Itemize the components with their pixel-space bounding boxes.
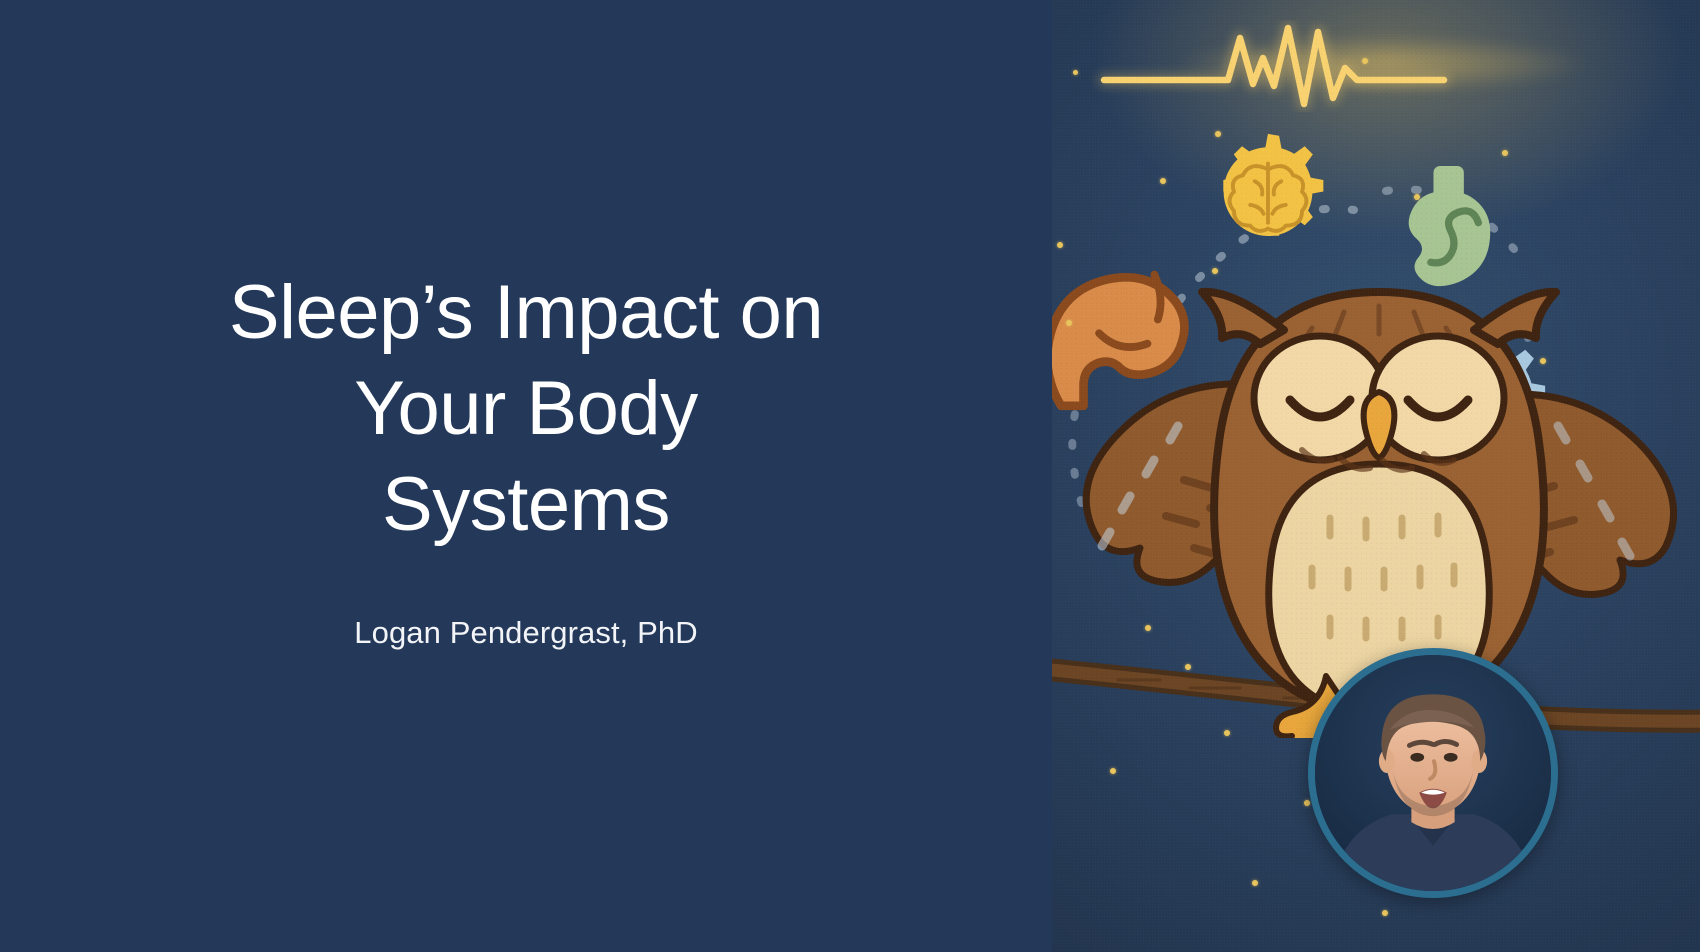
eeg-waveform-icon: [1052, 8, 1700, 128]
presenter-name-subtitle: Logan Pendergrast, PhD: [146, 615, 906, 651]
star-dot: [1057, 242, 1063, 248]
star-dot: [1362, 58, 1368, 64]
presenter-avatar: [1315, 655, 1551, 891]
star-dot: [1502, 150, 1508, 156]
presenter-video-bubble[interactable]: [1308, 648, 1558, 898]
title-block: Sleep’s Impact on Your Body Systems Loga…: [146, 265, 906, 650]
page-title: Sleep’s Impact on Your Body Systems: [146, 265, 906, 552]
sparkle-trail-right: [1532, 420, 1652, 570]
title-panel: Sleep’s Impact on Your Body Systems Loga…: [0, 0, 1052, 952]
star-dot: [1160, 178, 1166, 184]
star-dot: [1414, 194, 1420, 200]
slide-canvas: Sleep’s Impact on Your Body Systems Loga…: [0, 0, 1700, 952]
star-dot: [1073, 70, 1078, 75]
star-dot: [1215, 131, 1221, 137]
sparkle-trail-left: [1082, 420, 1202, 560]
presenter-video-region: [1052, 630, 1700, 952]
